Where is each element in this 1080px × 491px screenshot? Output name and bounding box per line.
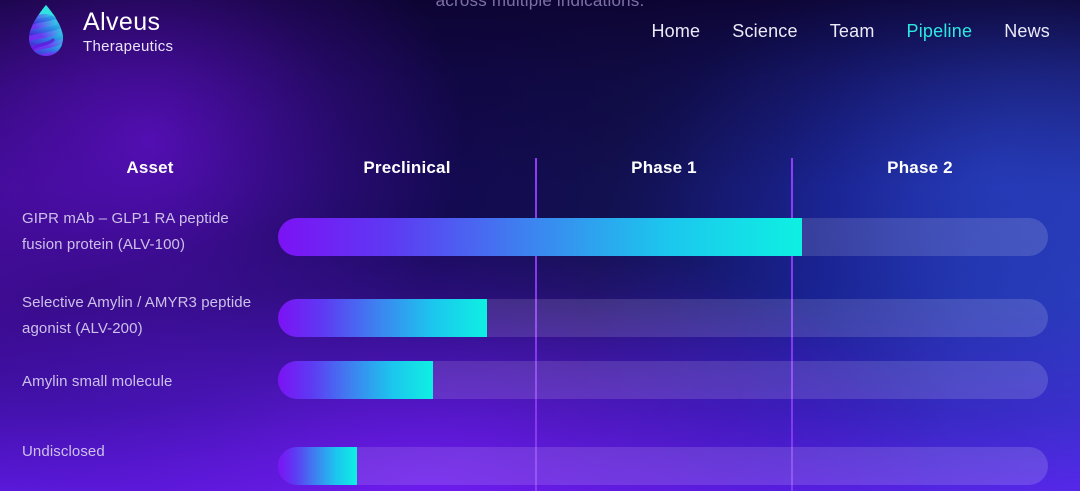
column-header-preclinical: Preclinical xyxy=(363,158,450,178)
brand-logo-link[interactable]: Alveus Therapeutics xyxy=(22,3,173,59)
nav-item-science[interactable]: Science xyxy=(732,21,797,42)
progress-track[interactable] xyxy=(278,361,1048,399)
column-header-phase-2: Phase 2 xyxy=(887,158,953,178)
nav-item-pipeline[interactable]: Pipeline xyxy=(907,21,973,42)
asset-label: GIPR mAb – GLP1 RA peptide fusion protei… xyxy=(22,206,270,258)
nav-item-news[interactable]: News xyxy=(1004,21,1050,42)
nav-item-home[interactable]: Home xyxy=(651,21,700,42)
column-header-phase-1: Phase 1 xyxy=(631,158,697,178)
progress-fill xyxy=(278,299,487,337)
progress-track[interactable] xyxy=(278,299,1048,337)
nav-item-team[interactable]: Team xyxy=(830,21,875,42)
site-header: Alveus Therapeutics Home Science Team Pi… xyxy=(0,0,1080,62)
asset-label: Selective Amylin / AMYR3 peptide agonist… xyxy=(22,290,270,342)
progress-track[interactable] xyxy=(278,218,1048,256)
column-header-asset: Asset xyxy=(126,158,173,178)
brand-subtitle: Therapeutics xyxy=(83,39,173,54)
progress-track[interactable] xyxy=(278,447,1048,485)
pipeline-row[interactable]: Undisclosed xyxy=(0,439,1080,491)
pipeline-table: Asset Preclinical Phase 1 Phase 2 GIPR m… xyxy=(0,150,1080,491)
asset-label: Undisclosed xyxy=(22,439,270,465)
main-navigation: Home Science Team Pipeline News xyxy=(651,21,1050,42)
asset-label: Amylin small molecule xyxy=(22,369,270,395)
progress-fill xyxy=(278,218,802,256)
alveus-droplet-logo-icon xyxy=(22,3,70,59)
pipeline-rows: GIPR mAb – GLP1 RA peptide fusion protei… xyxy=(0,202,1080,491)
pipeline-row[interactable]: GIPR mAb – GLP1 RA peptide fusion protei… xyxy=(0,202,1080,287)
pipeline-row[interactable]: Selective Amylin / AMYR3 peptide agonist… xyxy=(0,287,1080,367)
pipeline-column-headers: Asset Preclinical Phase 1 Phase 2 xyxy=(0,150,1080,192)
pipeline-row[interactable]: Amylin small molecule xyxy=(0,367,1080,439)
progress-fill xyxy=(278,361,433,399)
brand-name: Alveus xyxy=(83,10,173,35)
progress-fill xyxy=(278,447,357,485)
